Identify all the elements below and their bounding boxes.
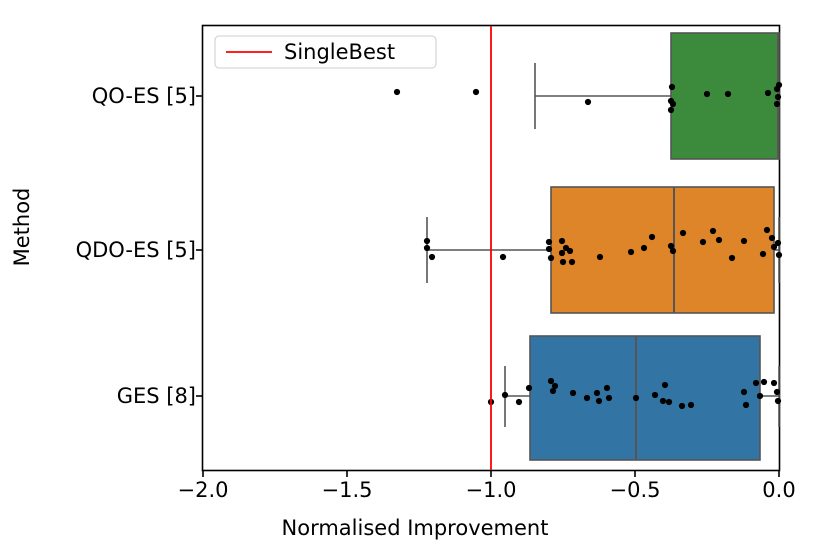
box-qo-es <box>671 33 779 159</box>
plot-canvas <box>0 0 830 554</box>
box-ges <box>530 336 760 460</box>
box-qdo-es <box>551 187 774 313</box>
boxplot-figure: Method Normalised Improvement QO-ES [5] … <box>0 0 830 554</box>
legend-label-single-best: SingleBest <box>284 40 395 64</box>
box-group-qo-es <box>394 33 782 159</box>
box-group-qdo-es <box>424 187 782 313</box>
box-group-ges <box>488 336 781 460</box>
